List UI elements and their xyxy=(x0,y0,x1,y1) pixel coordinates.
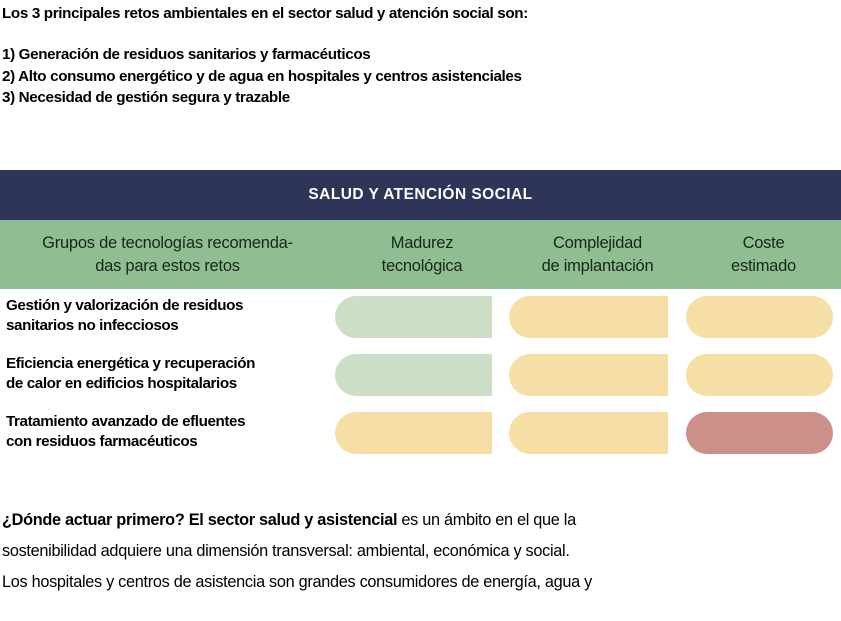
row-label-line: sanitarios no infecciosos xyxy=(6,316,329,336)
column-header-coste: Coste estimado xyxy=(686,232,841,278)
rating-pill-madurez xyxy=(335,296,492,338)
table-row: Gestión y valorización de residuos sanit… xyxy=(0,296,841,354)
table-header-row: Grupos de tecnologías recomenda- das par… xyxy=(0,220,841,289)
column-header-line: Complejidad xyxy=(509,232,686,255)
table-body: Gestión y valorización de residuos sanit… xyxy=(0,289,841,470)
rating-pill-coste xyxy=(686,354,833,396)
row-rating-cells xyxy=(335,412,833,454)
row-label-line: Gestión y valorización de residuos xyxy=(6,296,329,316)
row-label-line: con residuos farmacéuticos xyxy=(6,432,329,452)
footer-line-2: sostenibilidad adquiere una dimensión tr… xyxy=(2,536,841,567)
rating-pill-madurez xyxy=(335,412,492,454)
row-label: Eficiencia energética y recuperación de … xyxy=(0,354,335,393)
row-label: Gestión y valorización de residuos sanit… xyxy=(0,296,335,335)
table-row: Tratamiento avanzado de efluentes con re… xyxy=(0,412,841,470)
column-header-line: das para estos retos xyxy=(0,255,335,278)
rating-pill-coste xyxy=(686,296,833,338)
row-label-line: de calor en edificios hospitalarios xyxy=(6,374,329,394)
rating-pill-coste xyxy=(686,412,833,454)
rating-pill-madurez xyxy=(335,354,492,396)
technology-matrix-table: SALUD Y ATENCIÓN SOCIAL Grupos de tecnol… xyxy=(0,170,841,470)
footer-lead-bold: ¿Dónde actuar primero? El sector salud y… xyxy=(2,511,397,529)
rating-pill-complejidad xyxy=(509,354,668,396)
table-row: Eficiencia energética y recuperación de … xyxy=(0,354,841,412)
row-rating-cells xyxy=(335,354,833,396)
intro-block: Los 3 principales retos ambientales en e… xyxy=(0,0,841,109)
table-title: SALUD Y ATENCIÓN SOCIAL xyxy=(308,186,532,204)
intro-list-item: 2) Alto consumo energético y de agua en … xyxy=(2,66,841,88)
column-header-line: Grupos de tecnologías recomenda- xyxy=(0,232,335,255)
intro-list-item: 1) Generación de residuos sanitarios y f… xyxy=(2,44,841,66)
column-header-line: tecnológica xyxy=(335,255,509,278)
footer-paragraph: ¿Dónde actuar primero? El sector salud y… xyxy=(0,505,841,598)
row-label-line: Tratamiento avanzado de efluentes xyxy=(6,412,329,432)
rating-pill-complejidad xyxy=(509,412,668,454)
column-header-line: Madurez xyxy=(335,232,509,255)
column-header-madurez: Madurez tecnológica xyxy=(335,232,509,278)
column-header-grupos: Grupos de tecnologías recomenda- das par… xyxy=(0,232,335,278)
intro-lead-text: Los 3 principales retos ambientales en e… xyxy=(2,4,841,24)
row-rating-cells xyxy=(335,296,833,338)
row-label-line: Eficiencia energética y recuperación xyxy=(6,354,329,374)
footer-line-3: Los hospitales y centros de asistencia s… xyxy=(2,567,841,598)
intro-challenge-list: 1) Generación de residuos sanitarios y f… xyxy=(2,44,841,109)
column-header-line: estimado xyxy=(686,255,841,278)
intro-list-item: 3) Necesidad de gestión segura y trazabl… xyxy=(2,87,841,109)
footer-line-1: ¿Dónde actuar primero? El sector salud y… xyxy=(2,505,841,536)
row-label: Tratamiento avanzado de efluentes con re… xyxy=(0,412,335,451)
column-header-line: Coste xyxy=(686,232,841,255)
rating-pill-complejidad xyxy=(509,296,668,338)
footer-line-1-rest: es un ámbito en el que la xyxy=(397,511,576,529)
column-header-line: de implantación xyxy=(509,255,686,278)
column-header-complejidad: Complejidad de implantación xyxy=(509,232,686,278)
table-title-bar: SALUD Y ATENCIÓN SOCIAL xyxy=(0,170,841,220)
